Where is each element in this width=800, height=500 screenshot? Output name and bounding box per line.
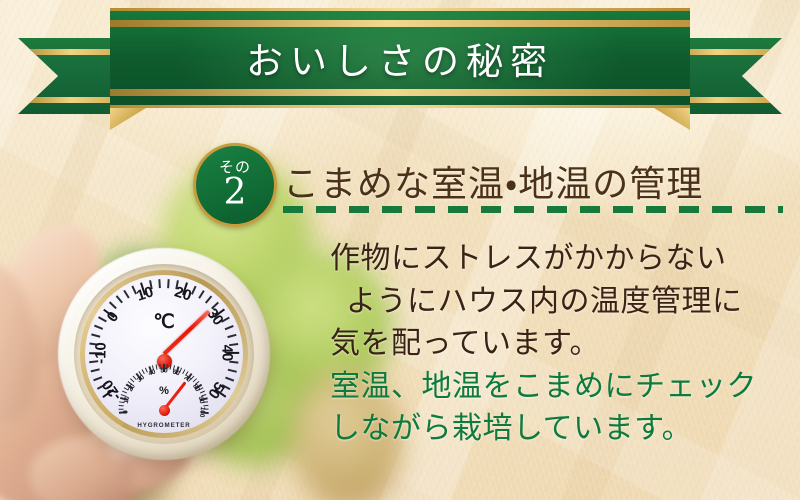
body-line: しながら栽培しています。 [330,408,790,451]
tick-mark [123,290,129,298]
body-line: 作物にストレスがかからない [330,238,790,281]
body-line: 気を配っています。 [330,323,790,366]
scale-number: 50 [160,368,167,375]
tick-mark [198,290,204,298]
tick-mark [94,377,103,382]
tick-mark [228,369,237,373]
tick-mark [156,365,158,370]
tick-mark [170,365,172,370]
tick-mark [225,377,234,382]
humidity-needle-hub [159,405,170,416]
headline-dashed-underline [283,206,783,213]
body-line: ようにハウス内の温度管理に [330,281,790,324]
tick-mark [123,391,128,394]
scale-number: 10 [123,395,132,404]
hygrometer-brand-label: HYGROMETER [137,422,190,429]
scale-number: 0 [104,308,123,325]
tick-mark [119,405,124,406]
scale-number: 20 [173,283,194,304]
scale-number: 40 [218,345,235,362]
tick-mark [225,325,234,330]
scale-number: 20 [127,383,137,393]
tick-mark [98,317,107,323]
banner-title: おいしさの秘密 [110,8,690,108]
tick-mark [159,279,161,288]
scale-number: 100 [198,407,206,418]
promo-image: ℃ -20-1001020304050 01020304050607080901… [0,0,800,500]
scale-number: 60 [172,369,181,378]
tick-mark [91,334,100,338]
gauge-dial-face: ℃ -20-1001020304050 01020304050607080901… [85,275,243,433]
hygrometer-subdial: 0102030405060708090100 % HYGROMETER [112,363,216,425]
tick-mark [109,302,117,309]
badge-number: 2 [224,176,247,209]
percent-unit-label: % [159,385,169,397]
scale-number: 0 [122,410,129,414]
tick-mark [200,391,205,394]
scale-number: 10 [134,283,155,304]
body-paragraph: 作物にストレスがかからないようにハウス内の温度管理に気を配っています。室温、地温… [330,238,790,451]
tick-mark [205,295,212,303]
tick-mark [228,334,237,338]
tick-mark [91,369,100,373]
tick-mark [116,295,123,303]
scale-number: -10 [92,342,109,364]
thermometer-hygrometer-gauge: ℃ -20-1001020304050 01020304050607080901… [58,248,270,460]
section-headline: こまめな室温・地温の管理 [283,155,703,207]
banner-ribbon: おいしさの秘密 [0,8,800,120]
body-line: 室温、地温をこまめにチェック [330,366,790,409]
step-number-badge: その 2 [193,143,277,227]
tick-mark [167,279,169,288]
scale-number: 40 [147,369,156,378]
scale-number: 90 [197,395,206,404]
tick-mark [94,325,103,330]
ribbon-center-panel: おいしさの秘密 [110,8,690,108]
celsius-unit-label: ℃ [153,311,174,334]
